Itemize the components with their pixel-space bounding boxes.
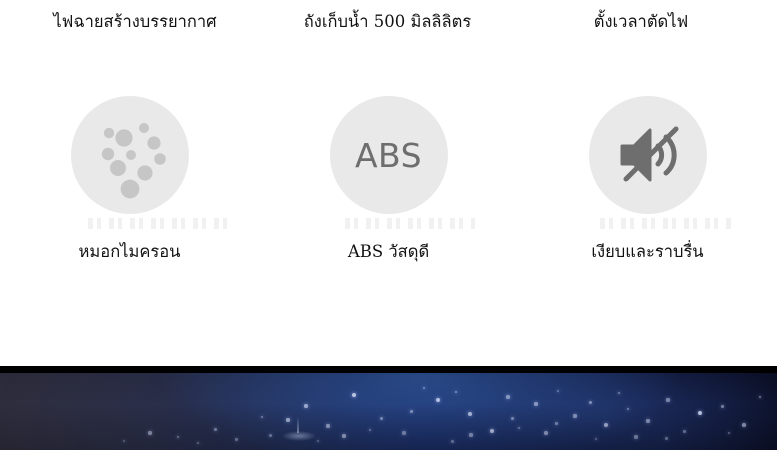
star-particle — [506, 395, 509, 398]
headline-text-timer-shutoff: ตั้งเวลาตัดไฟ — [594, 12, 688, 33]
star-particle — [423, 387, 426, 390]
star-particle — [534, 402, 537, 405]
star-particle — [683, 430, 686, 433]
star-particle — [326, 424, 329, 427]
star-particle — [402, 431, 405, 434]
star-particle — [666, 398, 669, 401]
star-particle — [698, 411, 703, 416]
star-particle — [410, 410, 413, 413]
star-particle — [369, 429, 372, 432]
star-particle — [214, 428, 217, 431]
star-particle — [261, 416, 264, 419]
mist-beam-glow — [282, 431, 316, 441]
star-particle — [759, 396, 762, 399]
feature-card-micron-mist: หมอกไมครอน — [0, 96, 259, 271]
star-particle — [646, 419, 649, 422]
star-particle — [728, 432, 731, 435]
headline-row: ไฟฉายสร้างบรรยากาศ ถังเก็บน้ำ 500 มิลลิล… — [0, 0, 777, 50]
banner-night-sky — [0, 373, 777, 450]
icon-circle-micron-mist — [71, 96, 189, 214]
speaker-mute-icon — [610, 117, 686, 193]
star-particle — [269, 434, 272, 437]
star-particle — [573, 414, 576, 417]
star-particle — [742, 423, 746, 427]
icon-circle-abs-material: ABS — [330, 96, 448, 214]
headline-text-ambient-light: ไฟฉายสร้างบรรยากาศ — [53, 12, 216, 33]
star-particle — [352, 393, 356, 397]
star-particle — [511, 417, 514, 420]
star-particle — [123, 440, 126, 443]
abs-material-icon: ABS — [355, 139, 422, 172]
star-particle — [490, 429, 495, 434]
star-particle — [518, 427, 521, 430]
banner-top-divider — [0, 366, 777, 373]
star-particle — [197, 442, 200, 445]
star-particle — [589, 401, 592, 404]
feature-cards-row: หมอกไมครอน ABS ABS วัสดุดี — [0, 96, 777, 271]
mist-beam-stem — [297, 417, 299, 433]
star-particle — [544, 431, 548, 435]
feature-card-quiet-smooth: เงียบและราบรื่น — [518, 96, 777, 271]
star-particle — [721, 405, 724, 408]
star-particle — [604, 423, 608, 427]
icon-circle-quiet-smooth — [589, 96, 707, 214]
star-particle — [468, 412, 472, 416]
feature-caption-quiet-smooth: เงียบและราบรื่น — [591, 242, 703, 263]
star-particle — [304, 404, 308, 408]
star-particle — [317, 440, 320, 443]
star-particle — [455, 391, 458, 394]
star-particle — [595, 438, 598, 441]
star-particle — [436, 398, 440, 402]
feature-card-abs-material: ABS ABS วัสดุดี — [259, 96, 518, 271]
headline-cell-timer-shutoff: ตั้งเวลาตัดไฟ — [505, 0, 777, 33]
headline-cell-water-tank: ถังเก็บน้ำ 500 มิลลิลิตร — [270, 0, 505, 33]
star-particle — [380, 417, 383, 420]
star-particle — [235, 438, 238, 441]
star-particle — [469, 433, 472, 436]
headline-cell-ambient-light: ไฟฉายสร้างบรรยากาศ — [0, 0, 270, 33]
star-particle — [177, 436, 180, 439]
star-particle — [148, 431, 151, 434]
mist-droplets-icon — [86, 111, 174, 199]
headline-text-water-tank: ถังเก็บน้ำ 500 มิลลิลิตร — [304, 12, 471, 33]
star-particle — [555, 422, 558, 425]
feature-caption-abs-material: ABS วัสดุดี — [348, 242, 429, 263]
star-particle — [627, 408, 630, 411]
star-particle — [634, 435, 637, 438]
starfield-banner — [0, 366, 777, 450]
star-particle — [286, 418, 290, 422]
star-particle — [618, 392, 621, 395]
feature-caption-micron-mist: หมอกไมครอน — [79, 242, 181, 263]
star-particle — [557, 390, 560, 393]
product-feature-page: ไฟฉายสร้างบรรยากาศ ถังเก็บน้ำ 500 มิลลิล… — [0, 0, 777, 450]
star-particle — [451, 440, 454, 443]
star-particle — [665, 437, 668, 440]
star-particle — [342, 434, 346, 438]
